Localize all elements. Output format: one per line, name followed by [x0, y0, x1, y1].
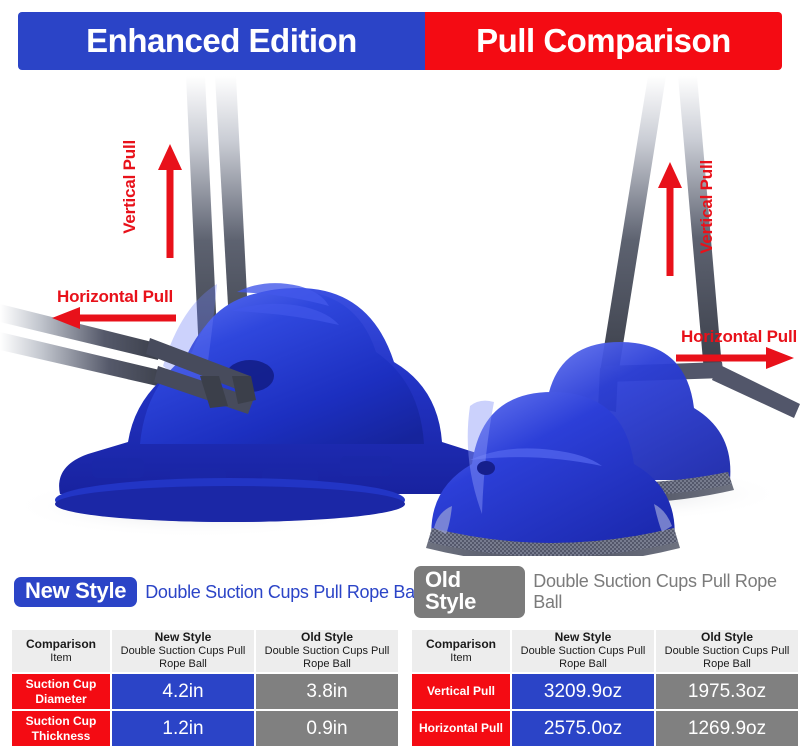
row-label-horizontal-pull: Horizontal Pull	[412, 711, 510, 746]
row-label-suction-cup-thickness: Suction Cup Thickness	[12, 711, 110, 746]
badge-old-style: Old Style	[414, 566, 525, 618]
vertical-pull-arrow-right	[655, 158, 685, 278]
header-line2: Double Suction Cups Pull Rope Ball	[512, 645, 654, 670]
header-banner: Enhanced Edition Pull Comparison	[18, 12, 782, 70]
table-row: Suction Cup Thickness 1.2in 0.9in	[12, 711, 398, 746]
header-old-style: Old Style Double Suction Cups Pull Rope …	[256, 630, 398, 672]
row-label-line1: Suction Cup	[26, 714, 97, 728]
header-title-pull-comparison: Pull Comparison	[476, 22, 731, 60]
comparison-table-dimensions: Comparison Item New Style Double Suction…	[10, 628, 400, 748]
table-header-row: Comparison Item New Style Double Suction…	[12, 630, 398, 672]
header-line2: Item	[12, 652, 110, 665]
value-old-suction-cup-diameter: 3.8in	[256, 674, 398, 709]
value-new-suction-cup-thickness: 1.2in	[112, 711, 254, 746]
vertical-pull-arrow-left	[155, 140, 185, 260]
caption-old-style: Old Style Double Suction Cups Pull Rope …	[414, 576, 800, 608]
value-new-vertical-pull: 3209.9oz	[512, 674, 654, 709]
row-label-line2: Diameter	[35, 692, 86, 706]
table-header-row: Comparison Item New Style Double Suction…	[412, 630, 798, 672]
header-line2: Double Suction Cups Pull Rope Ball	[656, 645, 798, 670]
header-banner-left: Enhanced Edition	[18, 12, 425, 70]
row-label-vertical-pull: Vertical Pull	[412, 674, 510, 709]
header-line1: Old Style	[256, 631, 398, 645]
header-comparison-item: Comparison Item	[12, 630, 110, 672]
horizontal-pull-arrow-right	[676, 344, 796, 372]
header-line1: New Style	[112, 631, 254, 645]
header-line1: New Style	[512, 631, 654, 645]
table-row: Suction Cup Diameter 4.2in 3.8in	[12, 674, 398, 709]
header-line1: Old Style	[656, 631, 798, 645]
table-row: Vertical Pull 3209.9oz 1975.3oz	[412, 674, 798, 709]
header-old-style: Old Style Double Suction Cups Pull Rope …	[656, 630, 798, 672]
comparison-table-pull-force: Comparison Item New Style Double Suction…	[410, 628, 800, 748]
header-line2: Double Suction Cups Pull Rope Ball	[256, 645, 398, 670]
value-new-suction-cup-diameter: 4.2in	[112, 674, 254, 709]
caption-new-style: New Style Double Suction Cups Pull Rope …	[14, 576, 422, 608]
vertical-pull-label-left: Vertical Pull	[120, 140, 140, 234]
row-label-line1: Suction Cup	[26, 677, 97, 691]
badge-new-style: New Style	[14, 577, 137, 607]
header-line2: Item	[412, 652, 510, 665]
header-banner-right: Pull Comparison	[425, 12, 782, 70]
row-label-line2: Thickness	[32, 729, 91, 743]
value-new-horizontal-pull: 2575.0oz	[512, 711, 654, 746]
caption-old-style-text: Double Suction Cups Pull Rope Ball	[533, 571, 800, 613]
horizontal-pull-arrow-left	[48, 304, 178, 332]
header-new-style: New Style Double Suction Cups Pull Rope …	[512, 630, 654, 672]
caption-new-style-text: Double Suction Cups Pull Rope Ball	[145, 582, 422, 603]
header-comparison-item: Comparison Item	[412, 630, 510, 672]
horizontal-pull-label-right: Horizontal Pull	[681, 327, 797, 347]
horizontal-pull-label-left: Horizontal Pull	[57, 287, 173, 307]
value-old-horizontal-pull: 1269.9oz	[656, 711, 798, 746]
header-new-style: New Style Double Suction Cups Pull Rope …	[112, 630, 254, 672]
header-line2: Double Suction Cups Pull Rope Ball	[112, 645, 254, 670]
header-line1: Comparison	[12, 638, 110, 652]
table-row: Horizontal Pull 2575.0oz 1269.9oz	[412, 711, 798, 746]
header-line1: Comparison	[412, 638, 510, 652]
header-title-enhanced-edition: Enhanced Edition	[86, 22, 357, 60]
row-label-suction-cup-diameter: Suction Cup Diameter	[12, 674, 110, 709]
value-old-vertical-pull: 1975.3oz	[656, 674, 798, 709]
value-old-suction-cup-thickness: 0.9in	[256, 711, 398, 746]
vertical-pull-label-right: Vertical Pull	[697, 160, 717, 254]
